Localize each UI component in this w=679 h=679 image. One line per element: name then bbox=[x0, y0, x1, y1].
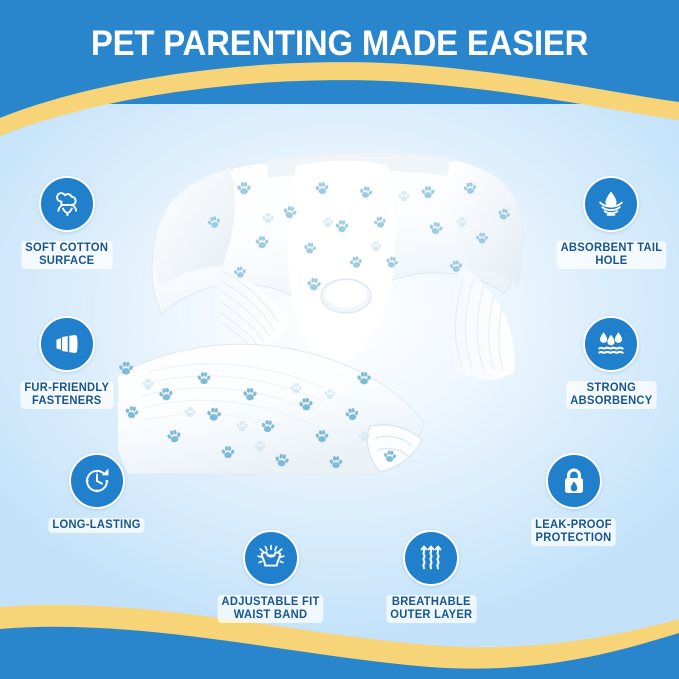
feature-label: ADJUSTABLE FIT WAIST BAND bbox=[218, 595, 324, 623]
feature-fasteners[interactable]: FUR-FRIENDLY FASTENERS bbox=[0, 316, 136, 409]
cotton-boll-icon bbox=[39, 176, 95, 232]
header: PET PARENTING MADE EASIER bbox=[0, 0, 679, 88]
feature-label: LEAK-PROOF PROTECTION bbox=[532, 518, 616, 546]
droplets-waves-icon bbox=[583, 316, 639, 372]
feature-label: FUR-FRIENDLY FASTENERS bbox=[21, 381, 114, 409]
product-infographic: PET PARENTING MADE EASIER bbox=[0, 0, 679, 679]
feature-label: LONG-LASTING bbox=[49, 518, 145, 533]
page-title: PET PARENTING MADE EASIER bbox=[91, 24, 588, 64]
feature-long-lasting[interactable]: LONG-LASTING bbox=[28, 453, 166, 533]
product-image bbox=[118, 126, 548, 476]
feature-tail-hole[interactable]: ABSORBENT TAIL HOLE bbox=[542, 176, 679, 269]
airflow-arrows-icon bbox=[403, 530, 459, 586]
feature-label: STRONG ABSORBENCY bbox=[566, 381, 656, 409]
feature-leak-proof[interactable]: LEAK-PROOF PROTECTION bbox=[505, 453, 643, 546]
feature-label: SOFT COTTON SURFACE bbox=[22, 241, 113, 269]
padlock-droplet-icon bbox=[546, 453, 602, 509]
feature-breathable[interactable]: BREATHABLE OUTER LAYER bbox=[362, 530, 500, 623]
feature-label: ABSORBENT TAIL HOLE bbox=[556, 241, 666, 269]
stretch-diaper-icon bbox=[243, 530, 299, 586]
clock-arrow-icon bbox=[69, 453, 125, 509]
fastener-tab-icon bbox=[39, 316, 95, 372]
droplet-funnel-icon bbox=[583, 176, 639, 232]
feature-waist-band[interactable]: ADJUSTABLE FIT WAIST BAND bbox=[202, 530, 340, 623]
feature-label: BREATHABLE OUTER LAYER bbox=[386, 595, 476, 623]
feature-soft-cotton[interactable]: SOFT COTTON SURFACE bbox=[0, 176, 136, 269]
feature-strong-absorbency[interactable]: STRONG ABSORBENCY bbox=[542, 316, 679, 409]
